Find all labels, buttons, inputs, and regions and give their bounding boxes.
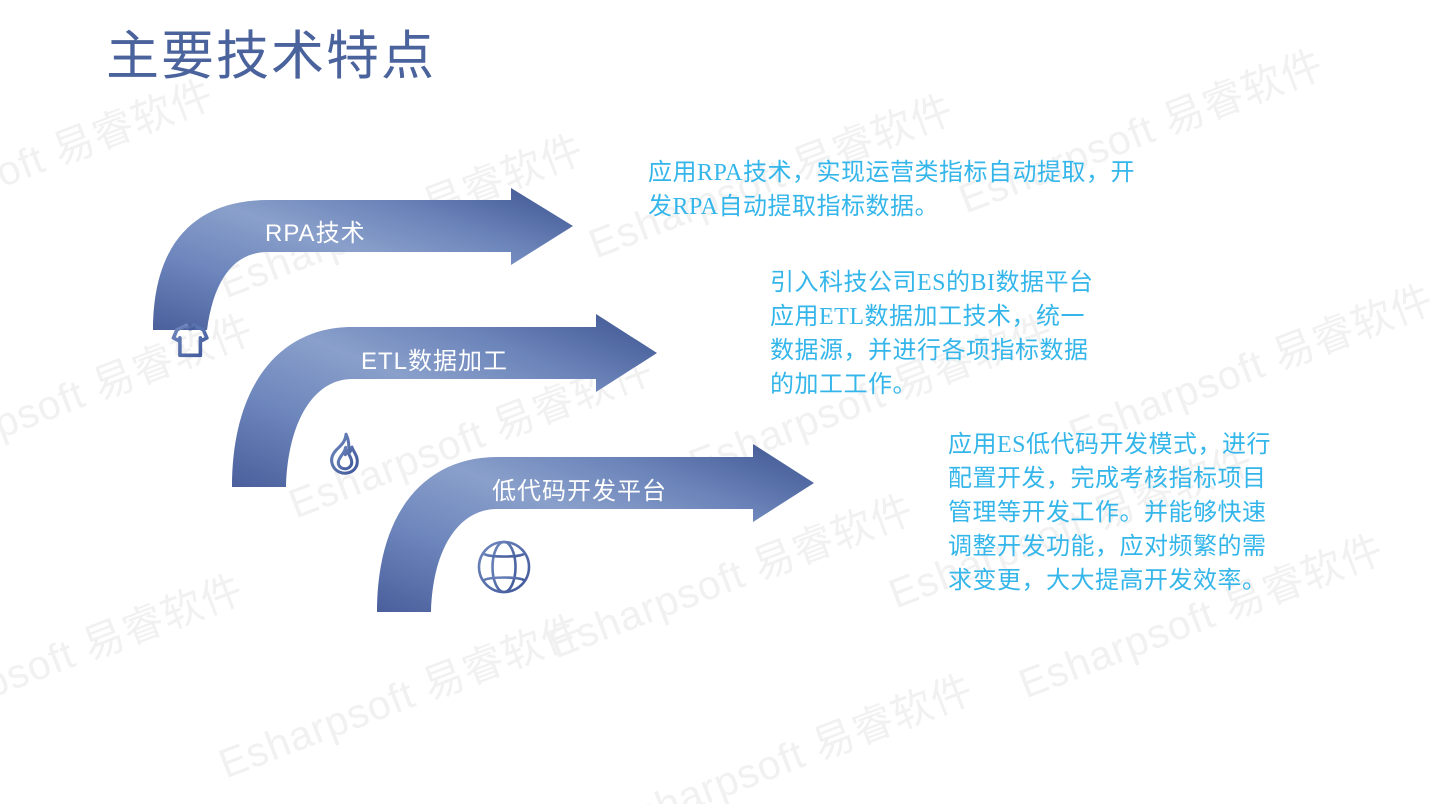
description-rpa: 应用RPA技术，实现运营类指标自动提取，开 发RPA自动提取指标数据。: [648, 156, 1218, 224]
arrow-label-etl: ETL数据加工: [361, 341, 508, 376]
arrow-label-rpa: RPA技术: [265, 213, 366, 248]
description-etl: 引入科技公司ES的BI数据平台 应用ETL数据加工技术，统一 数据源，并进行各项…: [770, 266, 1210, 402]
globe-icon: [479, 542, 529, 592]
slide-canvas: Esharpsoft 易睿软件Esharpsoft 易睿软件Esharpsoft…: [0, 0, 1437, 804]
bent-arrows-graphic: [0, 0, 1437, 804]
fire-icon: [332, 434, 358, 473]
description-lowcode: 应用ES低代码开发模式，进行 配置开发，完成考核指标项目 管理等开发工作。并能够…: [948, 428, 1328, 598]
tshirt-icon: [173, 325, 206, 355]
arrow-label-lowcode: 低代码开发平台: [492, 471, 667, 506]
page-title: 主要技术特点: [106, 14, 436, 90]
arrow-shape-3: [377, 444, 814, 612]
arrow-shape-1: [153, 188, 573, 330]
